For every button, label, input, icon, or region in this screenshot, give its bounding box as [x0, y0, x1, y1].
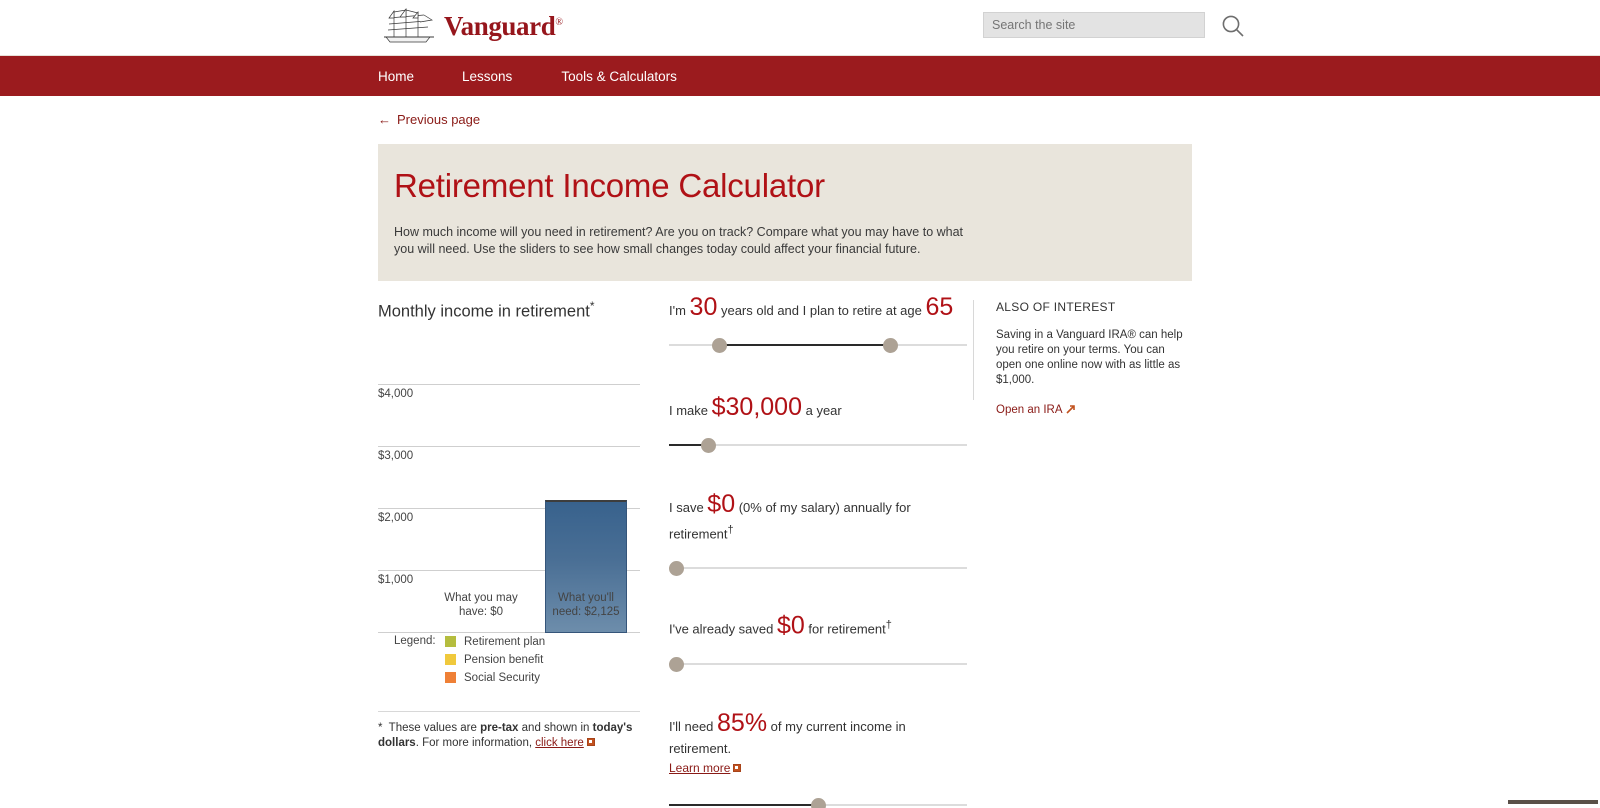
legend-entry-pension-benefit: Pension benefit: [445, 651, 545, 669]
slider-handle-retirement-age[interactable]: [883, 338, 898, 353]
chart-x-labels: What you may have: $0 What you'll need: …: [378, 591, 640, 623]
slider-income-replacement[interactable]: [669, 794, 967, 808]
value-income-replacement: 85%: [717, 709, 767, 737]
site-header: Vanguard®: [0, 0, 1600, 55]
chart-title-text: Monthly income in retirement: [378, 303, 590, 321]
legend-text-social-security: Social Security: [464, 672, 540, 684]
value-already-saved: $0: [777, 612, 805, 640]
label-income-replacement: I'll need 85% of my current income in re…: [669, 712, 969, 760]
text-for-retirement: for retirement: [805, 622, 886, 637]
slider-already-saved[interactable]: [669, 653, 967, 675]
previous-page-label: Previous page: [397, 112, 480, 127]
gridline-4000: [378, 384, 640, 385]
control-already-saved: I've already saved $0 for retirement†: [669, 614, 969, 674]
text-im: I'm: [669, 303, 690, 318]
ship-icon: [380, 6, 438, 46]
slider-handle-already-saved[interactable]: [669, 657, 684, 672]
external-link-icon: [587, 738, 595, 746]
value-salary: $30,000: [712, 393, 802, 421]
ytick-label-1000: $1,000: [378, 574, 413, 586]
label-age-retirement: I'm 30 years old and I plan to retire at…: [669, 296, 969, 322]
slider-salary[interactable]: [669, 434, 967, 456]
label-salary: I make $30,000 a year: [669, 396, 969, 422]
text-i-make: I make: [669, 403, 712, 418]
ytick-label-3000: $3,000: [378, 450, 413, 462]
legend-label: Legend:: [394, 635, 436, 647]
previous-page-link[interactable]: ← Previous page: [378, 112, 480, 127]
ytick-label-4000: $4,000: [378, 388, 413, 400]
aside-title: ALSO OF INTEREST: [996, 300, 1192, 314]
search-button[interactable]: [1219, 12, 1247, 40]
slider-annual-savings[interactable]: [669, 557, 967, 579]
text-ive-already-saved: I've already saved: [669, 622, 777, 637]
legend-entry-retirement-plan: Retirement plan: [445, 633, 545, 651]
slider-handle-income-replacement[interactable]: [811, 798, 826, 808]
slider-handle-salary[interactable]: [701, 438, 716, 453]
back-arrow-icon: ←: [378, 112, 391, 127]
slider-age-retirement[interactable]: [669, 334, 967, 356]
aside-divider: [973, 300, 974, 400]
chart-title-footnote-marker: *: [590, 299, 595, 313]
legend-text-pension-benefit: Pension benefit: [464, 654, 543, 666]
slider-track-already-saved[interactable]: [669, 663, 967, 665]
legend-text-retirement-plan: Retirement plan: [464, 636, 545, 648]
hero-banner: Retirement Income Calculator How much in…: [378, 144, 1192, 281]
text-i-save: I save: [669, 500, 707, 515]
ytick-label-2000: $2,000: [378, 512, 413, 524]
text-ill-need: I'll need: [669, 719, 717, 734]
footnote-part1: These values are: [389, 722, 480, 734]
slider-handle-annual-savings[interactable]: [669, 561, 684, 576]
legend-swatch-retirement-plan: [445, 636, 456, 647]
learn-more-row: Learn more: [669, 760, 969, 776]
footnote-part2: and shown in: [518, 722, 592, 734]
calculator-controls: I'm 30 years old and I plan to retire at…: [669, 296, 969, 808]
slider-fill-age: [719, 344, 890, 346]
page-title: Retirement Income Calculator: [394, 167, 825, 205]
value-annual-savings: $0: [707, 490, 735, 518]
gridline-3000: [378, 446, 640, 447]
search-icon: [1219, 12, 1247, 40]
chart-title: Monthly income in retirement*: [378, 296, 640, 322]
control-annual-savings: I save $0 (0% of my salary) annually for…: [669, 493, 969, 579]
external-link-icon: [1066, 401, 1075, 410]
search-input[interactable]: [983, 12, 1205, 38]
x-label-what-youll-need: What you'll need: $2,125: [521, 591, 651, 619]
chart-column: Monthly income in retirement* $4,000 $3,…: [378, 296, 640, 751]
vanguard-logo[interactable]: Vanguard®: [380, 6, 563, 46]
legend-entry-social-security: Social Security: [445, 669, 545, 687]
slider-handle-current-age[interactable]: [712, 338, 727, 353]
also-of-interest-panel: ALSO OF INTEREST Saving in a Vanguard IR…: [996, 300, 1192, 418]
legend-swatch-social-security: [445, 672, 456, 683]
value-retirement-age: 65: [926, 293, 954, 321]
footnote-divider: [378, 711, 640, 712]
page-description: How much income will you need in retirem…: [394, 224, 966, 258]
learn-more-link[interactable]: Learn more: [669, 761, 730, 775]
nav-items: Home Lessons Tools & Calculators: [378, 56, 726, 97]
label-already-saved: I've already saved $0 for retirement†: [669, 614, 969, 640]
slider-track-annual-savings[interactable]: [669, 567, 967, 569]
logo-wordmark: Vanguard®: [444, 13, 563, 40]
bar-chart: $4,000 $3,000 $2,000 $1,000: [378, 336, 640, 584]
dagger-footnote-marker-already-saved: †: [886, 619, 892, 631]
footnote-click-here-link[interactable]: click here: [535, 737, 584, 749]
footnote-marker: *: [378, 722, 382, 734]
registered-mark: ®: [555, 17, 562, 28]
open-an-ira-link[interactable]: Open an IRA: [996, 404, 1062, 416]
page-root: Vanguard® Home Lessons Tools & Calculato…: [0, 0, 1600, 808]
control-income-replacement: I'll need 85% of my current income in re…: [669, 712, 969, 808]
slider-fill-income-replacement: [669, 804, 821, 806]
text-a-year: a year: [802, 403, 842, 418]
dagger-footnote-marker-savings: †: [728, 524, 734, 536]
chart-footnote: * These values are pre-tax and shown in …: [378, 721, 640, 751]
main-navigation: Home Lessons Tools & Calculators: [0, 55, 1600, 96]
footnote-part3: . For more information,: [416, 737, 536, 749]
label-annual-savings: I save $0 (0% of my salary) annually for…: [669, 493, 969, 545]
bottom-progress-strip: [1508, 800, 1598, 804]
chart-legend: Legend: Retirement plan Pension benefit …: [378, 633, 640, 691]
aside-body-text: Saving in a Vanguard IRA® can help you r…: [996, 328, 1186, 388]
aside-link-row: Open an IRA: [996, 388, 1192, 418]
value-current-age: 30: [690, 293, 718, 321]
nav-item-tools-calculators[interactable]: Tools & Calculators: [561, 56, 701, 97]
footnote-bold-pretax: pre-tax: [480, 722, 518, 734]
control-age-retirement: I'm 30 years old and I plan to retire at…: [669, 296, 969, 356]
external-link-icon: [733, 764, 741, 772]
nav-item-lessons[interactable]: Lessons: [462, 56, 536, 97]
legend-entries: Retirement plan Pension benefit Social S…: [445, 633, 545, 687]
text-years-old-retire-at: years old and I plan to retire at age: [717, 303, 925, 318]
control-salary: I make $30,000 a year: [669, 396, 969, 456]
nav-item-home[interactable]: Home: [378, 56, 438, 97]
legend-swatch-pension-benefit: [445, 654, 456, 665]
